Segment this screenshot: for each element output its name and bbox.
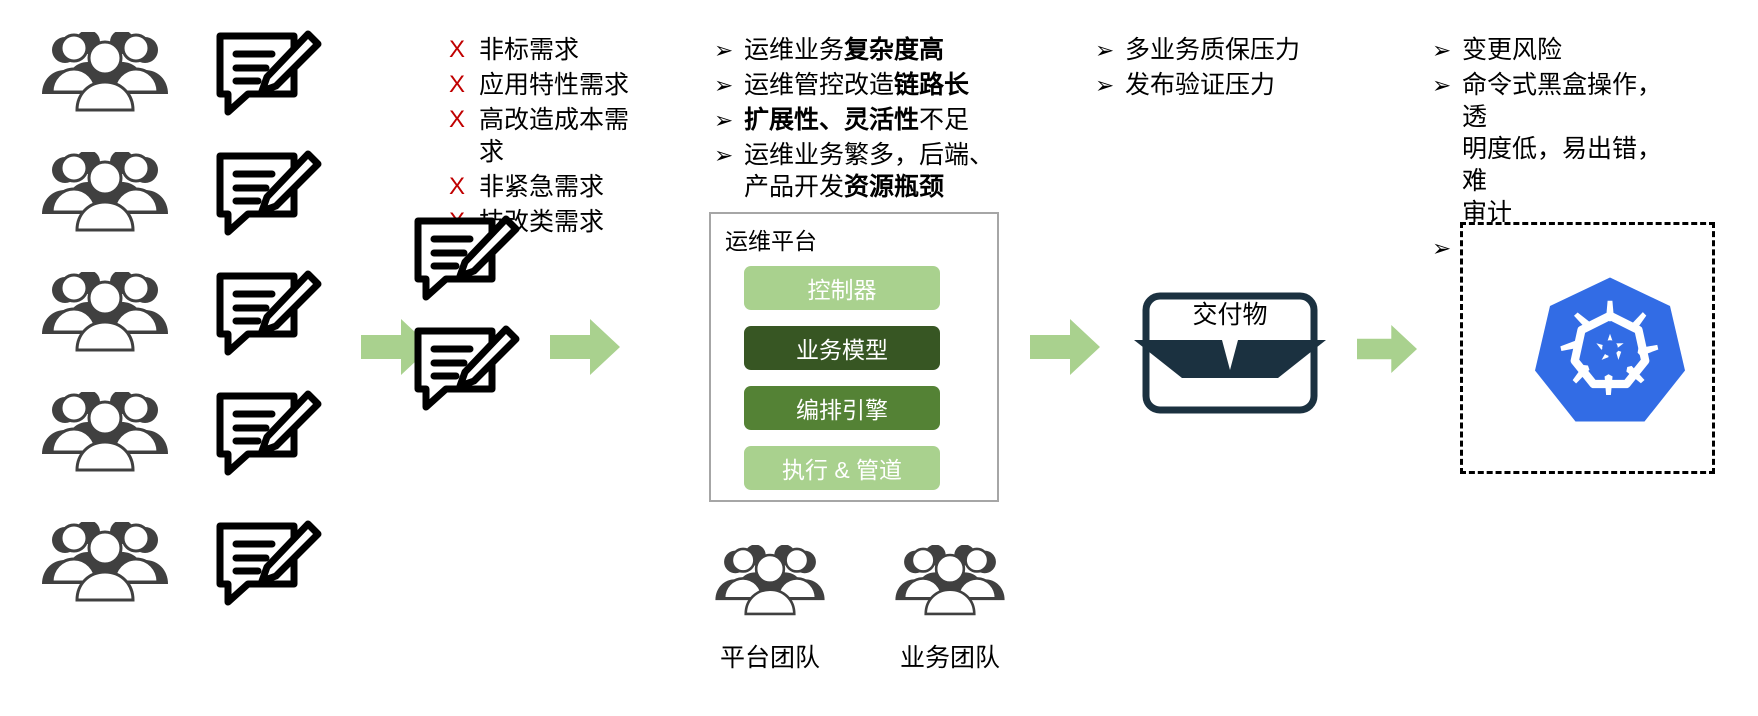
list-item-label: 运维业务繁多，后端、 产品开发资源瓶颈	[744, 139, 1004, 203]
list-item: ➢ 运维业务繁多，后端、 产品开发资源瓶颈	[714, 139, 1004, 203]
list-item-label: 非紧急需求	[479, 171, 639, 203]
requirement-list: X 非标需求 X 应用特性需求 X 高改造成本需求 X 非紧急需求 X 技改类需…	[449, 34, 639, 241]
document-edit-icon	[212, 270, 322, 365]
people-group-icon	[705, 545, 835, 617]
list-item: X 应用特性需求	[449, 69, 639, 101]
chevron-right-icon: ➢	[1432, 69, 1462, 101]
diagram-canvas: X 非标需求 X 应用特性需求 X 高改造成本需求 X 非紧急需求 X 技改类需…	[0, 0, 1758, 716]
document-edit-icon	[212, 520, 322, 615]
team-label-platform: 平台团队	[700, 638, 840, 674]
chevron-right-icon: ➢	[1432, 34, 1462, 66]
list-item: ➢ 扩展性、灵活性不足	[714, 104, 1004, 136]
list-item: X 非标需求	[449, 34, 639, 66]
platform-layer-orchestration-engine[interactable]: 编排引擎	[744, 386, 940, 430]
list-item: ➢ 多业务质保压力	[1095, 34, 1335, 66]
list-item-label: 运维业务复杂度高	[744, 34, 1004, 66]
chevron-right-icon: ➢	[714, 139, 744, 171]
platform-layer-controller[interactable]: 控制器	[744, 266, 940, 310]
people-group-icon	[30, 392, 180, 472]
people-group-icon	[30, 152, 180, 232]
document-edit-icon	[212, 30, 322, 125]
kubernetes-icon	[1535, 272, 1685, 429]
ops-platform-panel: 运维平台 控制器 业务模型 编排引擎 执行 & 管道	[709, 212, 999, 502]
list-item: ➢ 运维管控改造链路长	[714, 69, 1004, 101]
chevron-right-icon: ➢	[1432, 232, 1462, 264]
list-item: ➢ 变更风险	[1432, 34, 1682, 66]
document-edit-icon	[212, 390, 322, 485]
list-item: ➢ 发布验证压力	[1095, 69, 1335, 101]
list-item-label: 扩展性、灵活性不足	[744, 104, 1004, 136]
panel-title: 运维平台	[725, 222, 817, 256]
list-item: X 高改造成本需求	[449, 104, 639, 168]
list-item: X 非紧急需求	[449, 171, 639, 203]
right-arrow-icon	[550, 319, 620, 375]
people-group-icon	[885, 545, 1015, 617]
x-mark-icon: X	[449, 34, 479, 66]
ops-issue-list: ➢ 运维业务复杂度高 ➢ 运维管控改造链路长 ➢ 扩展性、灵活性不足 ➢ 运维业…	[714, 34, 1004, 206]
list-item-label: 应用特性需求	[479, 69, 639, 101]
delivery-label: 交付物	[1150, 295, 1310, 331]
list-item-label: 运维管控改造链路长	[744, 69, 1004, 101]
list-item-label: 发布验证压力	[1125, 69, 1335, 101]
x-mark-icon: X	[449, 69, 479, 101]
people-group-icon	[30, 272, 180, 352]
quality-pressure-list: ➢ 多业务质保压力 ➢ 发布验证压力	[1095, 34, 1335, 104]
people-group-icon	[30, 32, 180, 112]
x-mark-icon: X	[449, 104, 479, 136]
platform-layer-business-model[interactable]: 业务模型	[744, 326, 940, 370]
chevron-right-icon: ➢	[714, 104, 744, 136]
document-edit-icon	[410, 325, 520, 420]
document-edit-icon	[410, 215, 520, 310]
people-group-icon	[30, 522, 180, 602]
chevron-right-icon: ➢	[714, 69, 744, 101]
list-item-label: 高改造成本需求	[479, 104, 639, 168]
chevron-right-icon: ➢	[714, 34, 744, 66]
list-item-label: 多业务质保压力	[1125, 34, 1335, 66]
list-item-label: 命令式黑盒操作，透 明度低，易出错，难 审计	[1462, 69, 1682, 229]
chevron-right-icon: ➢	[1095, 34, 1125, 66]
list-item: ➢ 命令式黑盒操作，透 明度低，易出错，难 审计	[1432, 69, 1682, 229]
right-arrow-icon	[1030, 319, 1100, 375]
platform-layer-execution-pipeline[interactable]: 执行 & 管道	[744, 446, 940, 490]
list-item-label: 非标需求	[479, 34, 639, 66]
list-item-label: 变更风险	[1462, 34, 1682, 66]
list-item: ➢ 运维业务复杂度高	[714, 34, 1004, 66]
document-edit-icon	[212, 150, 322, 245]
team-label-business: 业务团队	[880, 638, 1020, 674]
x-mark-icon: X	[449, 171, 479, 203]
chevron-right-icon: ➢	[1095, 69, 1125, 101]
right-arrow-icon	[1357, 325, 1417, 373]
